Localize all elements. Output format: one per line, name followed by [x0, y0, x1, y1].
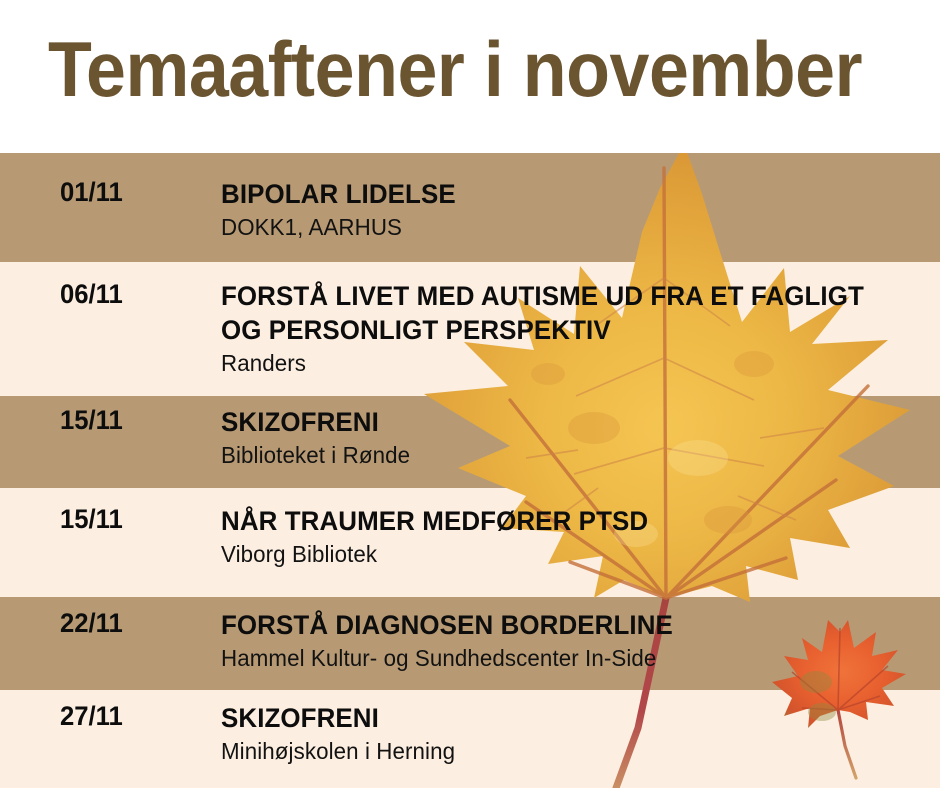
event-title: BIPOLAR LIDELSE — [221, 177, 893, 211]
event-date: 27/11 — [60, 701, 203, 731]
event-title: FORSTÅ DIAGNOSEN BORDERLINE — [221, 608, 893, 642]
event-title: FORSTÅ LIVET MED AUTISME UD FRA ET FAGLI… — [221, 279, 893, 347]
event-title: SKIZOFRENI — [221, 701, 893, 735]
event-venue: DOKK1, AARHUS — [221, 213, 900, 242]
event-list: 01/11 BIPOLAR LIDELSE DOKK1, AARHUS 06/1… — [0, 153, 940, 788]
event-venue: Viborg Bibliotek — [221, 540, 900, 569]
event-date: 15/11 — [60, 504, 203, 534]
event-title: NÅR TRAUMER MEDFØRER PTSD — [221, 504, 893, 538]
event-body: FORSTÅ LIVET MED AUTISME UD FRA ET FAGLI… — [221, 279, 921, 378]
event-body: FORSTÅ DIAGNOSEN BORDERLINE Hammel Kultu… — [221, 608, 921, 673]
header-band: Temaaftener i november — [0, 0, 940, 153]
poster-canvas: Temaaftener i november 01/11 BIPOLAR LID… — [0, 0, 940, 788]
event-body: NÅR TRAUMER MEDFØRER PTSD Viborg Bibliot… — [221, 504, 921, 569]
page-title: Temaaftener i november — [48, 26, 862, 112]
event-venue: Randers — [221, 349, 900, 378]
event-date: 06/11 — [60, 279, 203, 309]
event-venue: Hammel Kultur- og Sundhedscenter In-Side — [221, 644, 900, 673]
event-date: 22/11 — [60, 608, 203, 638]
event-body: SKIZOFRENI Biblioteket i Rønde — [221, 405, 921, 470]
event-body: SKIZOFRENI Minihøjskolen i Herning — [221, 701, 921, 766]
event-body: BIPOLAR LIDELSE DOKK1, AARHUS — [221, 177, 921, 242]
event-venue: Biblioteket i Rønde — [221, 441, 900, 470]
event-date: 15/11 — [60, 405, 203, 435]
event-venue: Minihøjskolen i Herning — [221, 737, 900, 766]
event-date: 01/11 — [60, 177, 203, 207]
event-title: SKIZOFRENI — [221, 405, 893, 439]
